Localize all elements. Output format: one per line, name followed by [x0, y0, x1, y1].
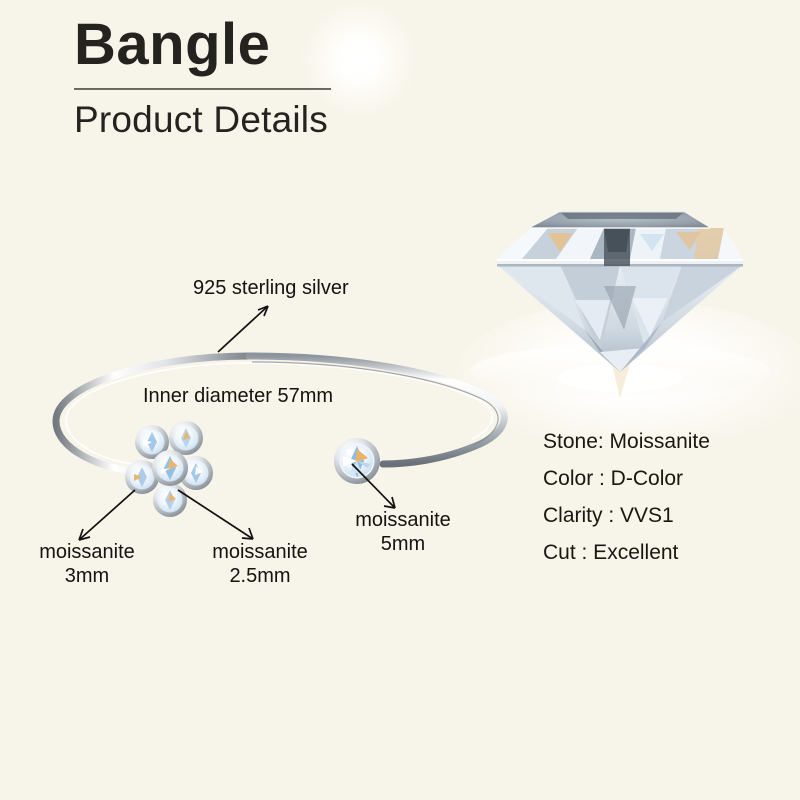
- annotation-stone-2-5mm-line1: moissanite: [190, 541, 330, 565]
- spec-row-color: Color : D-Color: [543, 460, 710, 497]
- annotation-arrows: [79, 306, 395, 540]
- flower-stone-cluster: [125, 421, 213, 517]
- annotation-stone-2-5mm: moissanite 2.5mm: [190, 541, 330, 588]
- annotation-stone-3mm-line1: moissanite: [17, 541, 157, 565]
- annotation-stone-2-5mm-line2: 2.5mm: [190, 565, 330, 589]
- spec-row-stone: Stone: Moissanite: [543, 423, 710, 460]
- annotation-stone-5mm-line1: moissanite: [337, 509, 469, 533]
- annotation-stone-5mm-line2: 5mm: [337, 533, 469, 557]
- annotation-stone-3mm: moissanite 3mm: [17, 541, 157, 588]
- page-subtitle: Product Details: [74, 101, 331, 138]
- spec-row-cut: Cut : Excellent: [543, 534, 710, 571]
- specification-list: Stone: Moissanite Color : D-Color Clarit…: [543, 423, 710, 571]
- annotation-material: 925 sterling silver: [193, 277, 349, 301]
- annotation-inner-diameter: Inner diameter 57mm: [143, 385, 333, 409]
- terminal-stone: [334, 438, 380, 484]
- page-title: Bangle: [74, 16, 331, 74]
- annotation-stone-5mm: moissanite 5mm: [337, 509, 469, 556]
- header: Bangle Product Details: [74, 16, 331, 138]
- diamond-illustration: [470, 212, 770, 398]
- annotation-stone-3mm-line2: 3mm: [17, 565, 157, 589]
- title-divider: [74, 88, 331, 90]
- product-detail-image: Bangle Product Details: [0, 0, 800, 800]
- bangle-illustration: [56, 356, 504, 517]
- spec-row-clarity: Clarity : VVS1: [543, 497, 710, 534]
